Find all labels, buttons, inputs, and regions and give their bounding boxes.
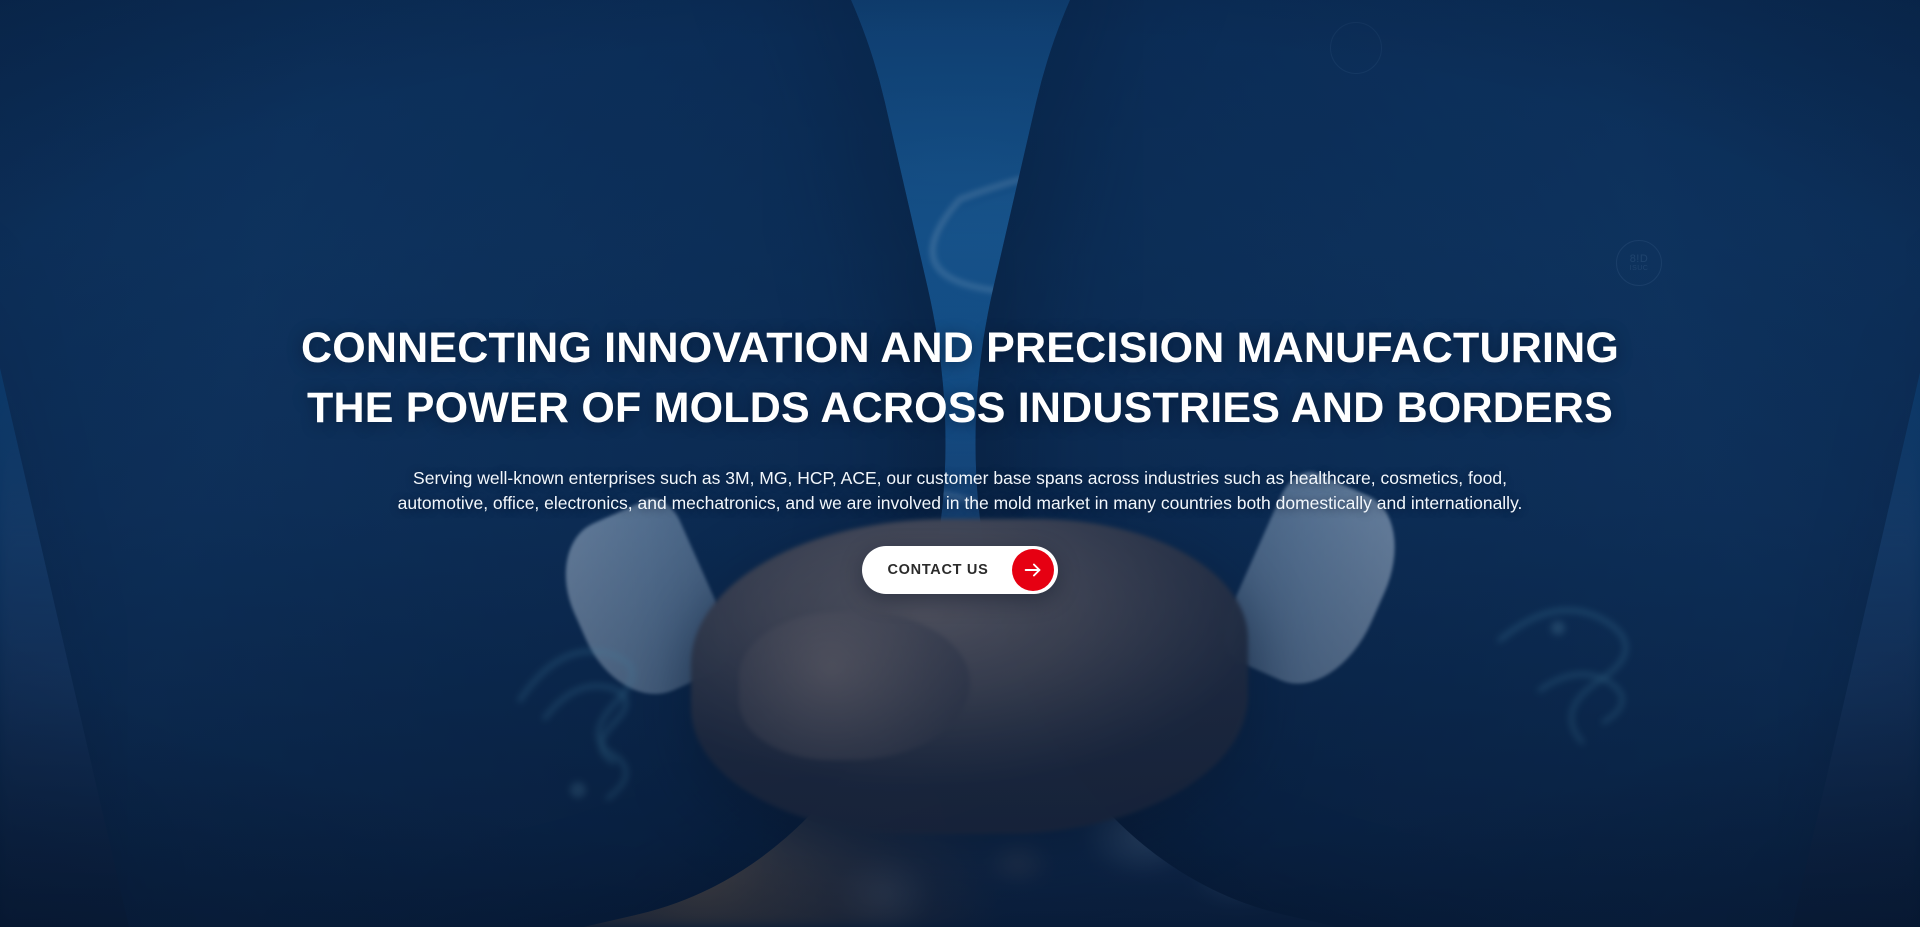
page-title: CONNECTING INNOVATION AND PRECISION MANU… — [230, 318, 1690, 438]
hero-subtitle: Serving well-known enterprises such as 3… — [260, 466, 1660, 516]
subtitle-line-1: Serving well-known enterprises such as 3… — [260, 466, 1660, 491]
hero-banner: 8!D ISUC CONNECTING INNOVATION AND PRECI… — [0, 0, 1920, 927]
arrow-right-icon — [1012, 549, 1054, 591]
headline-line-1: CONNECTING INNOVATION AND PRECISION MANU… — [230, 318, 1690, 378]
contact-us-button[interactable]: CONTACT US — [862, 546, 1059, 594]
hero-content: CONNECTING INNOVATION AND PRECISION MANU… — [0, 0, 1920, 927]
contact-us-label: CONTACT US — [888, 562, 1013, 578]
cta-container: CONTACT US — [862, 546, 1059, 594]
subtitle-line-2: automotive, office, electronics, and mec… — [260, 491, 1660, 516]
headline-line-2: THE POWER OF MOLDS ACROSS INDUSTRIES AND… — [230, 378, 1690, 438]
